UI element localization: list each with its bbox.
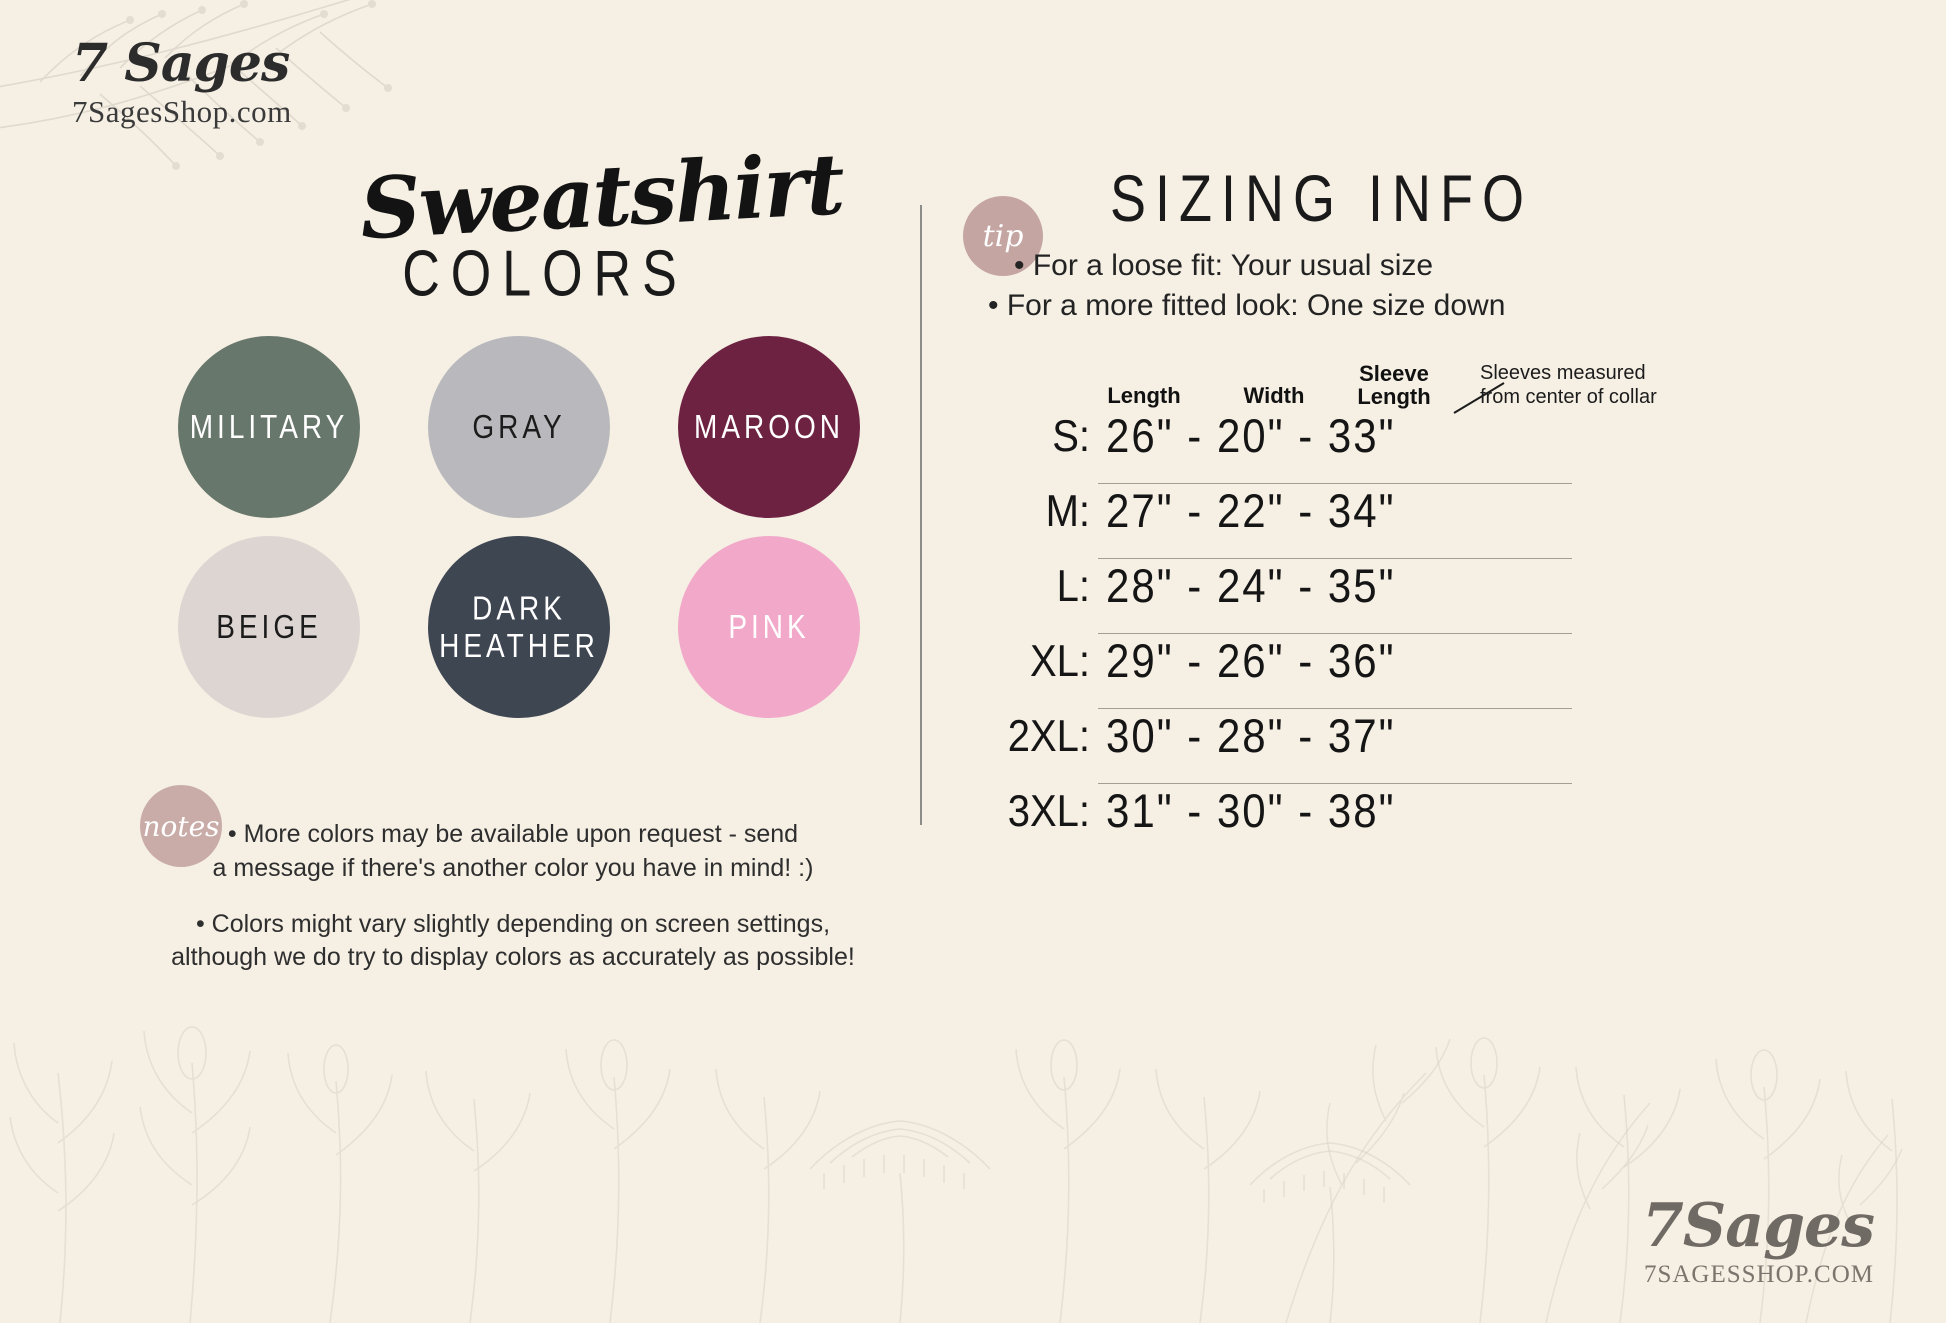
swatch-maroon[interactable]: MAROON [678,336,860,518]
table-row: XL: 29" - 26" - 36" [980,634,1580,709]
row-measurements: 30" - 28" - 37" [1106,709,1396,763]
brand-website-footer: 7SAGESSHOP.COM [1642,1262,1874,1287]
swatch-beige[interactable]: BEIGE [178,536,360,718]
title-subtitle: COLORS [370,236,720,311]
section-divider [920,205,922,825]
row-measurements: 28" - 24" - 35" [1106,559,1396,613]
header-length: Length [1080,383,1208,409]
page-title: Sweatshirt COLORS [360,160,720,304]
table-row: 3XL: 31" - 30" - 38" [980,784,1580,859]
header-sleeve-length: SleeveLength [1340,362,1448,410]
row-measurements: 26" - 20" - 33" [1106,409,1396,463]
row-size: XL: [980,637,1090,687]
swatch-label: MAROON [694,408,844,446]
swatch-label: PINK [728,608,809,646]
row-measurements: 31" - 30" - 38" [1106,784,1396,838]
swatch-label: BEIGE [216,608,322,646]
swatch-label: GRAY [472,408,565,446]
row-measurements: 29" - 26" - 36" [1106,634,1396,688]
table-row: L: 28" - 24" - 35" [980,559,1580,634]
row-size: 3XL: [980,787,1090,837]
note-item: • More colors may be available upon requ… [128,818,898,886]
sizing-tips: • For a loose fit: Your usual size • For… [988,246,1548,326]
swatch-gray[interactable]: GRAY [428,336,610,518]
brand-logo-bottom-right: 7Sages 7SAGESSHOP.COM [1642,1196,1874,1287]
brand-logo-top-left: 7 Sages 7SagesShop.com [72,38,292,127]
swatch-row-1: MILITARY GRAY MAROON [178,336,878,518]
sizing-chart-page: 7 Sages 7SagesShop.com Sweatshirt COLORS… [0,0,1946,1323]
swatch-military[interactable]: MILITARY [178,336,360,518]
tip-item: • For a loose fit: Your usual size [988,246,1548,286]
size-table-header: Length Width SleeveLength Sleeves measur… [980,365,1580,409]
swatch-pink[interactable]: PINK [678,536,860,718]
sizing-info-heading: SIZING INFO [1110,161,1533,237]
row-size: 2XL: [980,712,1090,762]
row-size: M: [980,487,1090,537]
table-row: S: 26" - 20" - 33" [980,409,1580,484]
size-table: Length Width SleeveLength Sleeves measur… [980,365,1580,859]
swatch-label: MILITARY [190,408,349,446]
table-row: 2XL: 30" - 28" - 37" [980,709,1580,784]
color-swatch-grid: MILITARY GRAY MAROON BEIGE DARKHEATHER P… [178,336,878,736]
brand-name: 7 Sages [72,38,292,90]
table-row: M: 27" - 22" - 34" [980,484,1580,559]
brand-name-footer: 7Sages [1642,1196,1874,1256]
header-width: Width [1208,383,1340,409]
swatch-label: DARKHEATHER [439,589,599,664]
row-size: L: [980,562,1090,612]
swatch-row-2: BEIGE DARKHEATHER PINK [178,536,878,718]
row-measurements: 27" - 22" - 34" [1106,484,1396,538]
note-item: • Colors might vary slightly depending o… [128,908,898,976]
brand-website: 7SagesShop.com [72,96,292,127]
swatch-dark-heather[interactable]: DARKHEATHER [428,536,610,718]
tip-item: • For a more fitted look: One size down [988,286,1548,326]
sleeve-measurement-note: Sleeves measuredfrom center of collar [1480,361,1670,409]
row-size: S: [980,412,1090,462]
notes-list: • More colors may be available upon requ… [128,818,898,997]
title-script: Sweatshirt [358,151,722,250]
